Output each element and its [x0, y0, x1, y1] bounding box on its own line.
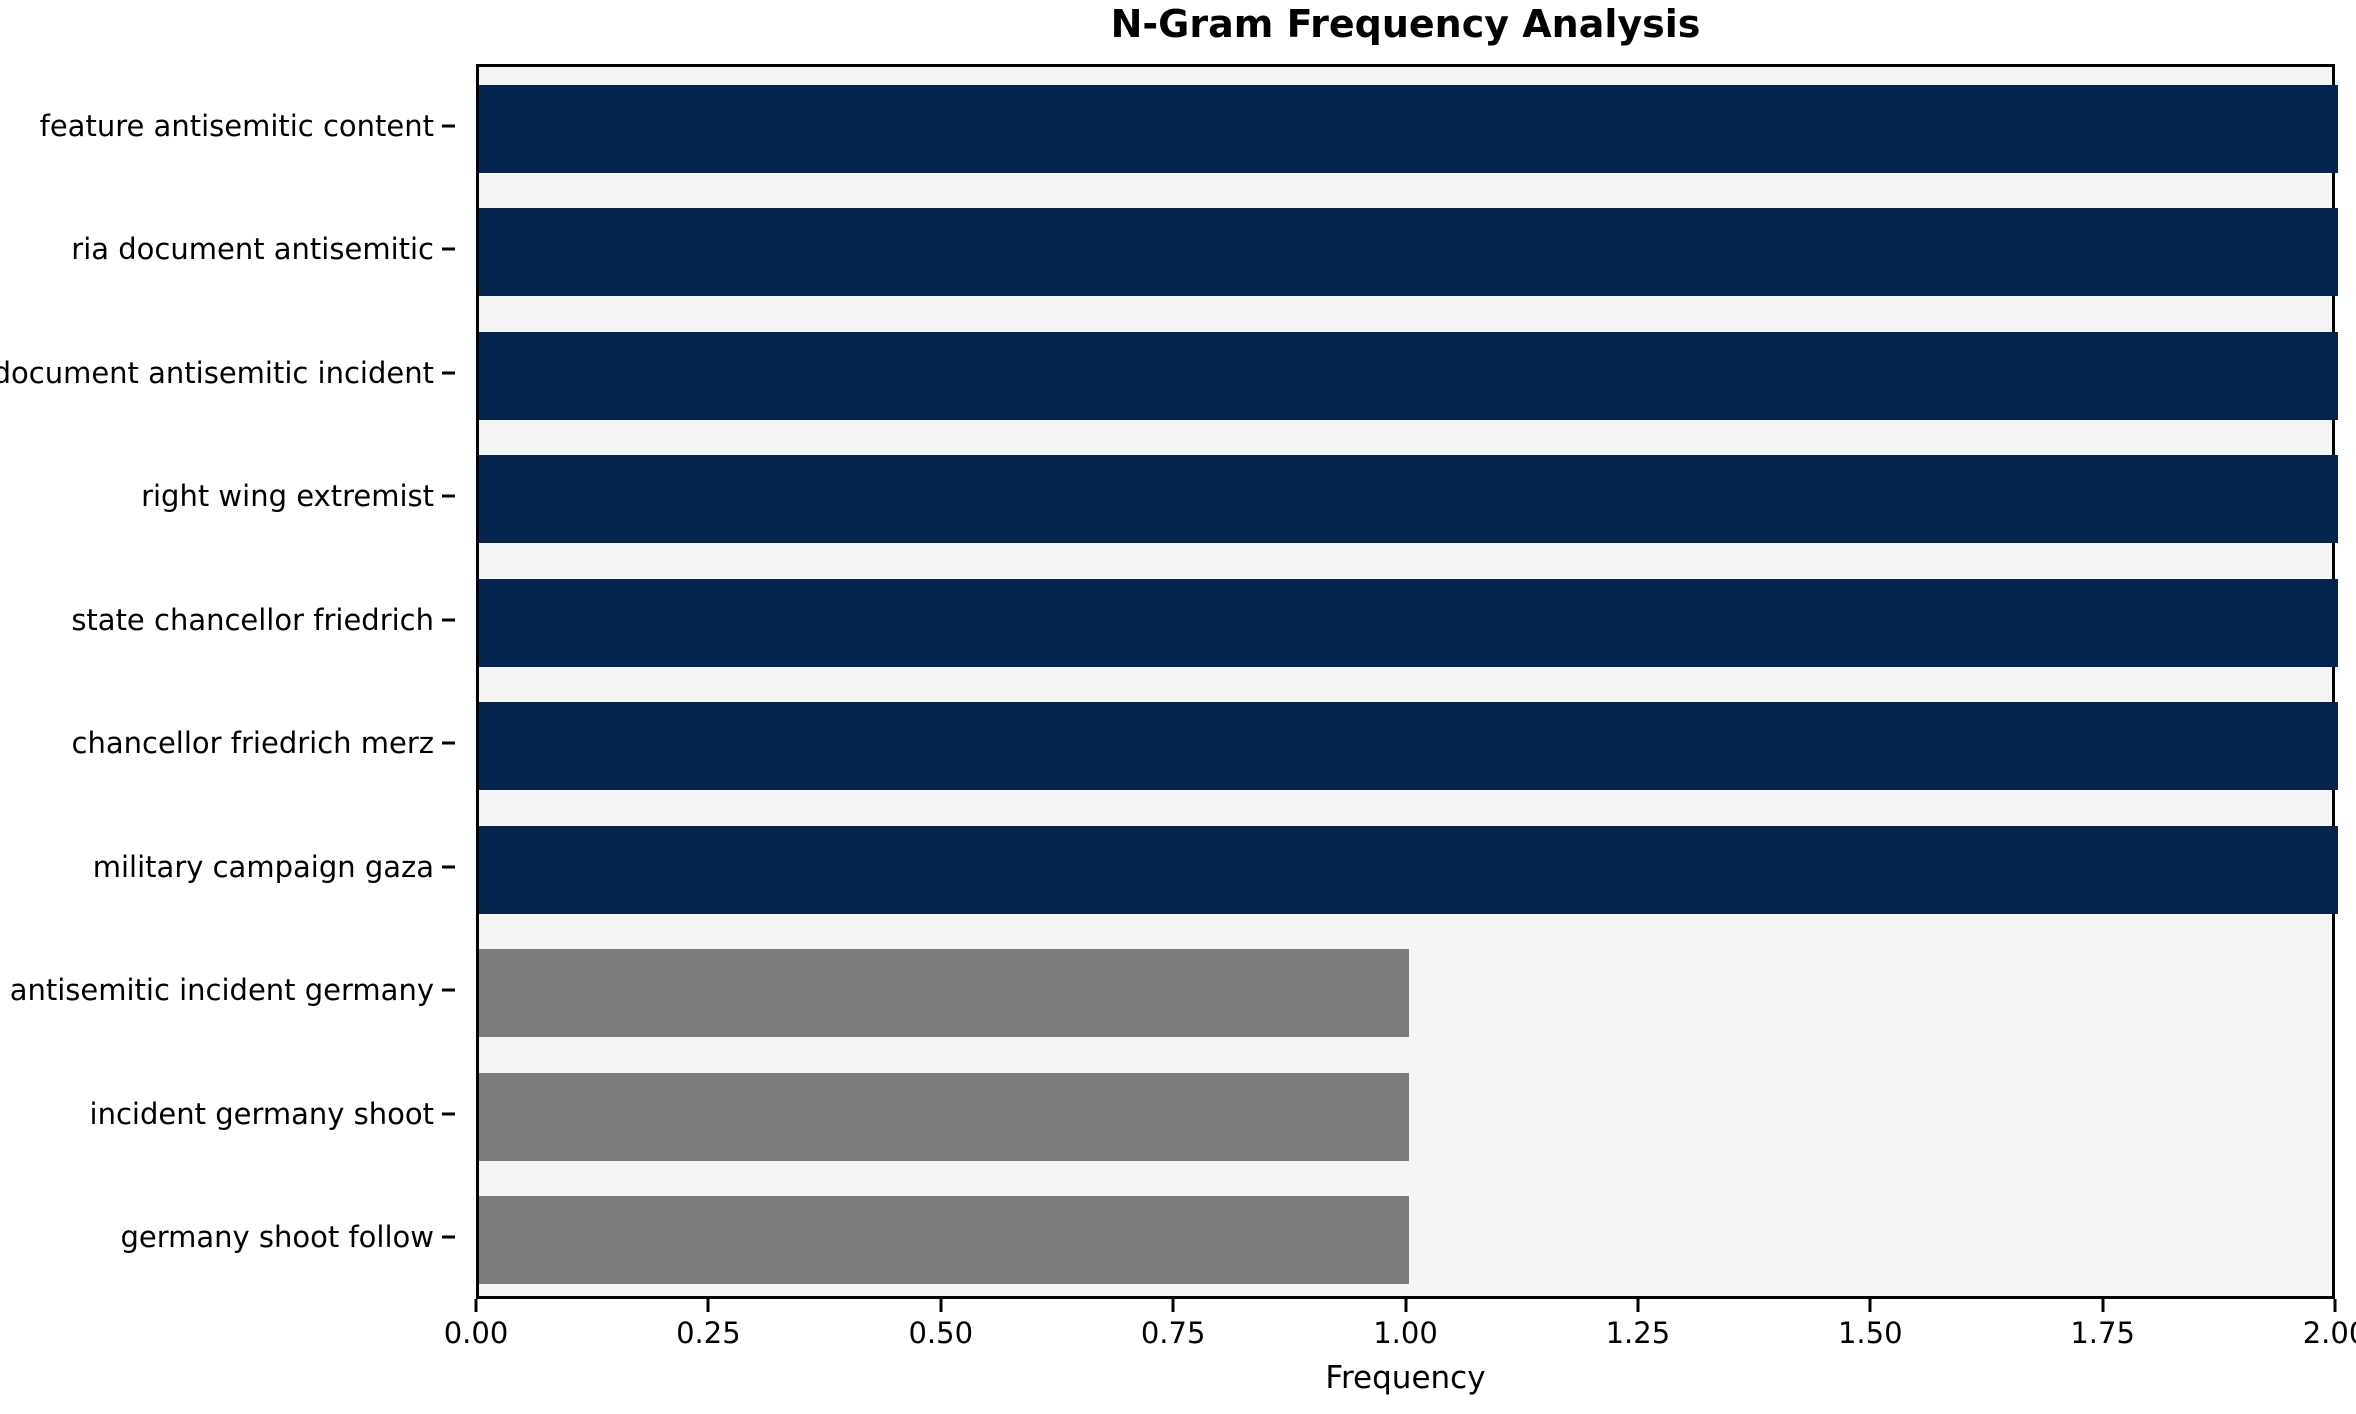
y-axis-tick-label: incident germany shoot — [90, 1097, 434, 1131]
y-axis-tick-label: chancellor friedrich merz — [72, 726, 434, 760]
y-axis-tick-label: feature antisemitic content — [40, 109, 434, 143]
y-axis-tick-mark — [442, 742, 455, 745]
y-axis-tick-label: state chancellor friedrich — [71, 603, 434, 637]
bar — [479, 1073, 1409, 1161]
x-axis-tick-label: 1.00 — [1373, 1316, 1438, 1350]
bar — [479, 702, 2338, 790]
x-axis-tick-label: 2.00 — [2303, 1316, 2356, 1350]
y-axis-tick-label: germany shoot follow — [120, 1220, 434, 1254]
chart-title: N-Gram Frequency Analysis — [476, 2, 2335, 46]
x-axis-tick-label: 1.75 — [2070, 1316, 2135, 1350]
bar — [479, 85, 2338, 173]
x-axis-tick-mark — [939, 1299, 942, 1312]
x-axis-tick-label: 0.00 — [444, 1316, 509, 1350]
bar — [479, 1196, 1409, 1284]
y-axis-tick-mark — [442, 1112, 455, 1115]
x-axis-tick-mark — [707, 1299, 710, 1312]
y-axis-tick-mark — [442, 865, 455, 868]
bar — [479, 949, 1409, 1037]
y-axis-tick-labels: feature antisemitic contentria document … — [0, 64, 455, 1299]
y-axis-tick-label: document antisemitic incident — [0, 356, 434, 390]
bar — [479, 579, 2338, 667]
y-axis-tick-mark — [442, 618, 455, 621]
y-axis-tick-mark — [442, 124, 455, 127]
x-axis-tick-mark — [2101, 1299, 2104, 1312]
x-axis-tick-mark — [475, 1299, 478, 1312]
x-axis-tick-label: 1.50 — [1838, 1316, 1903, 1350]
chart-figure: N-Gram Frequency Analysis feature antise… — [0, 0, 2356, 1414]
y-axis-tick-mark — [442, 371, 455, 374]
y-axis-tick-mark — [442, 495, 455, 498]
bars-layer — [479, 67, 2332, 1296]
y-axis-tick-label: antisemitic incident germany — [10, 973, 434, 1007]
y-axis-tick-mark — [442, 989, 455, 992]
x-axis-tick-mark — [1636, 1299, 1639, 1312]
x-axis-tick-label: 0.50 — [908, 1316, 973, 1350]
bar — [479, 826, 2338, 914]
y-axis-tick-label: right wing extremist — [141, 479, 434, 513]
x-axis-tick-mark — [2334, 1299, 2337, 1312]
x-axis-label: Frequency — [476, 1360, 2335, 1396]
x-axis-tick-label: 1.25 — [1606, 1316, 1671, 1350]
bar — [479, 332, 2338, 420]
x-axis-tick-label: 0.75 — [1141, 1316, 1206, 1350]
x-axis-tick-mark — [1869, 1299, 1872, 1312]
bar — [479, 455, 2338, 543]
x-axis-tick-mark — [1172, 1299, 1175, 1312]
plot-area — [476, 64, 2335, 1299]
x-axis-tick-label: 0.25 — [676, 1316, 741, 1350]
y-axis-tick-mark — [442, 248, 455, 251]
y-axis-tick-mark — [442, 1236, 455, 1239]
y-axis-tick-label: ria document antisemitic — [71, 232, 434, 266]
bar — [479, 208, 2338, 296]
y-axis-tick-label: military campaign gaza — [93, 850, 434, 884]
x-axis-tick-mark — [1404, 1299, 1407, 1312]
